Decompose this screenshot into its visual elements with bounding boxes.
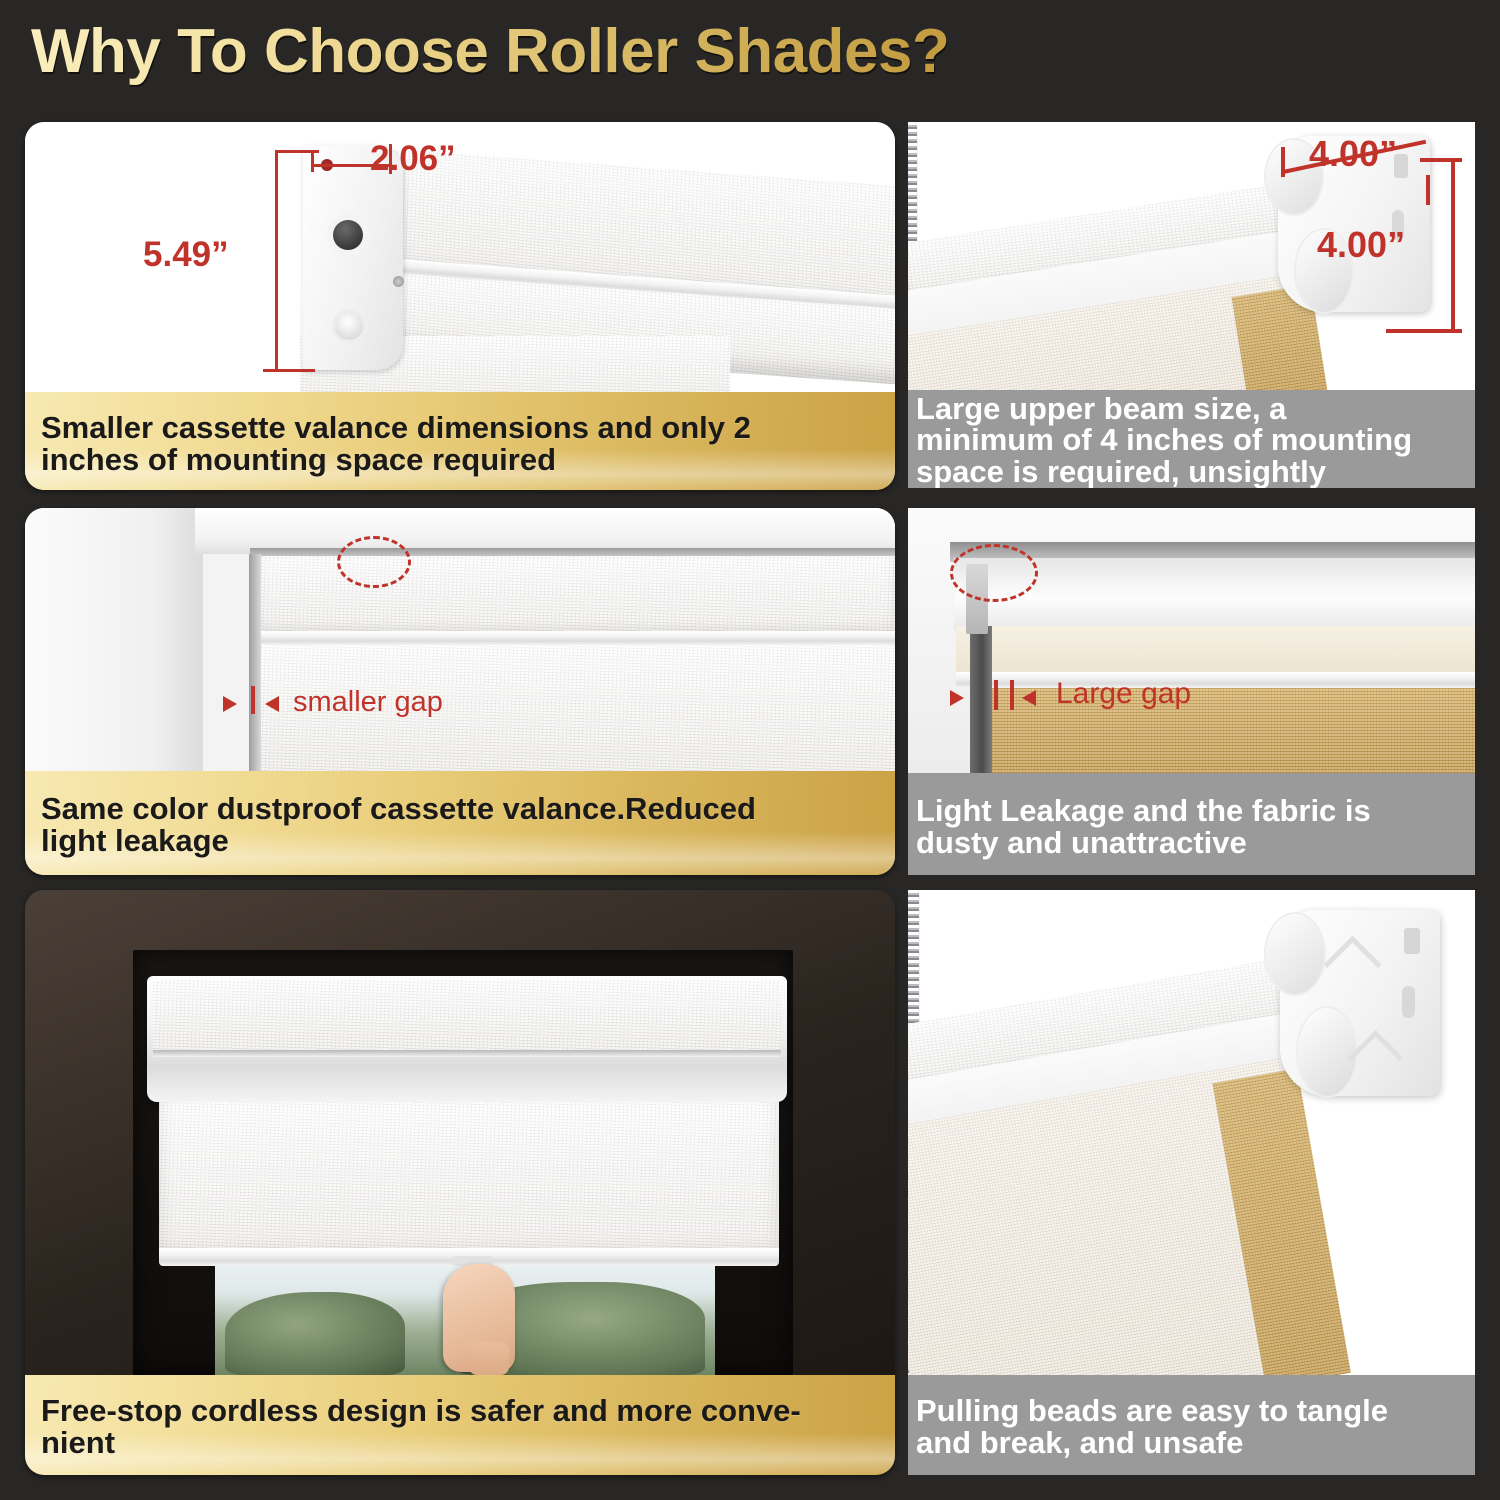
end-cap-screw-lower (393, 276, 404, 287)
detail-highlight-ring (950, 544, 1038, 602)
panel-pulling-beads: Pulling beads are easy to tangle and bre… (908, 890, 1475, 1475)
panel-1-caption-band: Smaller cassette valance dimensions and … (25, 392, 895, 490)
tree-foliage-left (225, 1292, 405, 1375)
panel-6-caption-band: Pulling beads are easy to tangle and bre… (908, 1375, 1475, 1475)
panel-large-beam: 4.00” 4.00” Large upper beam size, a min… (908, 122, 1475, 488)
beam-width-tick-left (1281, 147, 1285, 177)
panel-6-photo (908, 890, 1475, 1375)
beam-height-tick-bottom (1386, 329, 1462, 333)
end-cap-pin (335, 312, 363, 340)
roller-fabric-top-cream (956, 626, 1475, 674)
panel-cordless-design: Free-stop cordless design is safer and m… (25, 890, 895, 1475)
gap-arrow-left (950, 690, 964, 706)
panel-3-caption-band: Same color dustproof cassette valance.Re… (25, 771, 895, 875)
panel-dustproof-valance: smaller gap Same color dustproof cassett… (25, 508, 895, 875)
gap-marker-line (251, 686, 255, 714)
detail-highlight-ring (337, 536, 411, 588)
window-frame-left (25, 508, 203, 771)
gap-callout-label: smaller gap (293, 686, 443, 719)
gap-arrow-right (265, 696, 279, 712)
panel-4-photo: Large gap (908, 508, 1475, 773)
panel-smaller-cassette: 2.06” 5.49” Smaller cassette valance dim… (25, 122, 895, 490)
panel-4-caption: Light Leakage and the fabric is dusty an… (916, 795, 1467, 858)
panel-1-caption: Smaller cassette valance dimensions and … (41, 412, 879, 475)
panel-1-photo: 2.06” 5.49” (25, 122, 895, 392)
panel-4-caption-band: Light Leakage and the fabric is dusty an… (908, 773, 1475, 875)
panel-5-photo (25, 890, 895, 1375)
gap-marker-line-b (1010, 680, 1014, 710)
width-dimension-label: 2.06” (370, 139, 456, 179)
light-gap-dark-strip (970, 626, 992, 773)
headrail-face-texture (153, 980, 781, 1052)
height-dimension-label: 5.49” (143, 235, 229, 275)
panel-3-photo: smaller gap (25, 508, 895, 771)
beam-width-label: 4.00” (1309, 133, 1397, 175)
roller-shade-panel (159, 1102, 779, 1262)
panel-2-caption-band: Large upper beam size, a minimum of 4 in… (908, 390, 1475, 488)
bracket-slot-lower (1402, 986, 1415, 1018)
gap-marker-line-a (994, 680, 998, 710)
forearm (469, 1342, 509, 1375)
width-dim-tick-left (311, 150, 314, 172)
gap-callout-label: Large gap (1056, 677, 1191, 711)
bracket-clutch-wheel-top (1266, 914, 1324, 994)
beam-bottom-rail (956, 672, 1475, 688)
panel-5-caption: Free-stop cordless design is safer and m… (41, 1395, 879, 1458)
comparison-grid: 2.06” 5.49” Smaller cassette valance dim… (0, 0, 1500, 1500)
valance-bottom-edge (257, 631, 895, 645)
beam-height-label: 4.00” (1317, 224, 1405, 266)
headrail-groove (153, 1050, 781, 1057)
valance-left-return (249, 554, 261, 771)
height-dim-tick-bottom (263, 369, 315, 372)
gap-arrow-right (1022, 690, 1036, 706)
gap-arrow-left (223, 696, 237, 712)
beam-height-dim-line (1451, 158, 1455, 332)
panel-6-caption: Pulling beads are easy to tangle and bre… (916, 1395, 1467, 1458)
beam-width-tick-right (1426, 175, 1430, 205)
panel-5-caption-band: Free-stop cordless design is safer and m… (25, 1375, 895, 1475)
height-dim-line (275, 150, 278, 372)
panel-3-caption: Same color dustproof cassette valance.Re… (41, 793, 879, 856)
end-cap-clutch-slot (333, 220, 363, 250)
panel-2-photo: 4.00” 4.00” (908, 122, 1475, 390)
panel-2-caption: Large upper beam size, a minimum of 4 in… (916, 393, 1467, 488)
panel-light-leakage: Large gap Light Leakage and the fabric i… (908, 508, 1475, 875)
bracket-clutch-wheel-bottom (1298, 1008, 1356, 1096)
bracket-slot-upper (1404, 928, 1420, 954)
beam-height-tick-top (1420, 158, 1462, 162)
height-dim-tick-top (275, 150, 319, 153)
